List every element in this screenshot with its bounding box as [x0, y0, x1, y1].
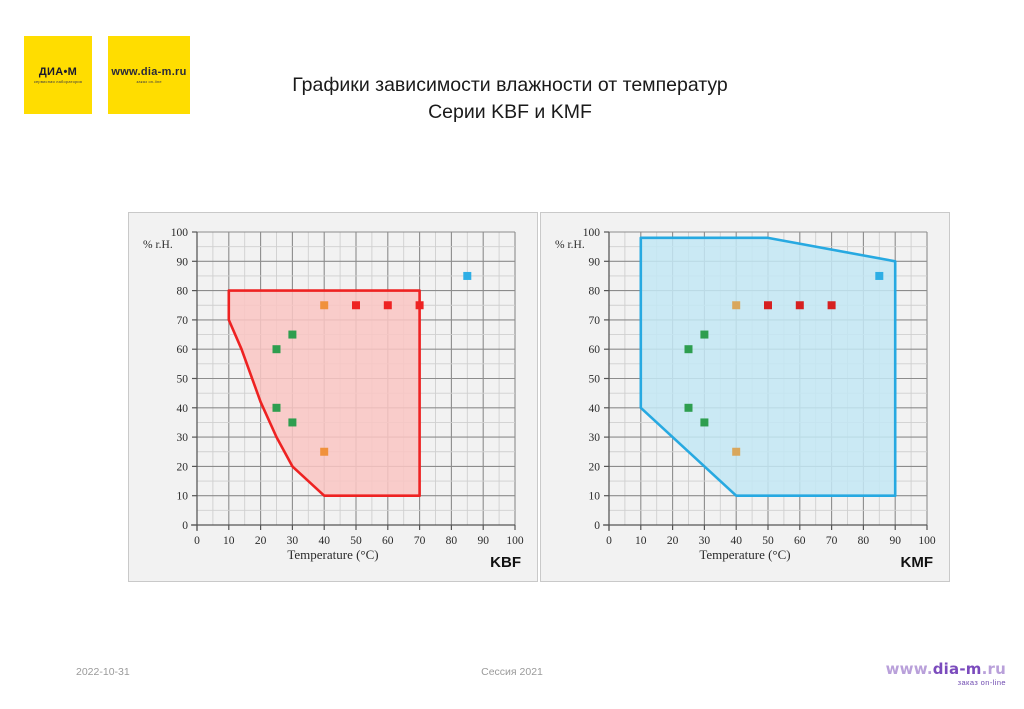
- logo-diam-subtitle: сервисная лаборатория: [34, 80, 82, 85]
- data-point-green: [700, 418, 708, 426]
- x-tick-label: 0: [194, 535, 200, 547]
- x-tick-label: 10: [635, 535, 647, 547]
- data-point-orange: [320, 301, 328, 309]
- y-tick-label: 0: [594, 520, 600, 532]
- x-tick-label: 100: [506, 535, 524, 547]
- x-tick-label: 90: [477, 535, 489, 547]
- data-point-red: [764, 301, 772, 309]
- y-tick-label: 40: [177, 403, 189, 415]
- x-tick-label: 40: [318, 535, 330, 547]
- x-tick-label: 60: [794, 535, 806, 547]
- page-title-line1: Графики зависимости влажности от темпера…: [210, 72, 810, 99]
- x-tick-label: 60: [382, 535, 394, 547]
- footer-logo-www: www.: [886, 660, 933, 678]
- y-tick-label: 30: [589, 432, 601, 444]
- y-tick-label: 30: [177, 432, 189, 444]
- data-point-tan: [732, 448, 740, 456]
- x-tick-label: 70: [414, 535, 426, 547]
- y-tick-label: 80: [589, 286, 601, 298]
- data-point-red: [416, 301, 424, 309]
- plot-area-kbf: 0102030405060708090100010203040506070809…: [129, 213, 537, 581]
- x-tick-label: 70: [826, 535, 838, 547]
- x-axis-label-kbf: Temperature (°C): [129, 547, 537, 563]
- y-tick-label: 100: [583, 227, 601, 239]
- footer-logo-brand: dia-m: [933, 660, 982, 678]
- data-point-blue: [875, 272, 883, 280]
- data-point-orange: [320, 448, 328, 456]
- data-point-green: [288, 418, 296, 426]
- logo-diam: ДИА•М сервисная лаборатория: [24, 36, 92, 114]
- x-axis-label-kmf: Temperature (°C): [541, 547, 949, 563]
- x-tick-label: 80: [446, 535, 458, 547]
- x-tick-label: 20: [667, 535, 679, 547]
- y-tick-label: 70: [589, 315, 601, 327]
- footer-logo-tld: ru: [988, 660, 1006, 678]
- y-axis-label-kbf: % r.H.: [143, 239, 173, 251]
- x-tick-label: 80: [858, 535, 870, 547]
- page-title-line2: Серии KBF и KMF: [210, 99, 810, 126]
- y-tick-label: 50: [177, 374, 189, 386]
- y-tick-label: 80: [177, 286, 189, 298]
- footer-session: Сессия 2021: [0, 666, 1024, 678]
- data-point-red: [796, 301, 804, 309]
- x-tick-label: 20: [255, 535, 267, 547]
- y-tick-label: 50: [589, 374, 601, 386]
- slide-canvas: ДИА•М сервисная лаборатория www.dia-m.ru…: [0, 0, 1024, 709]
- x-tick-label: 100: [918, 535, 936, 547]
- series-tag-kmf: KMF: [901, 554, 934, 571]
- data-point-tan: [732, 301, 740, 309]
- x-tick-label: 40: [730, 535, 742, 547]
- data-point-green: [273, 345, 281, 353]
- operating-range-polygon: [229, 291, 420, 496]
- y-tick-label: 20: [589, 461, 601, 473]
- data-point-green: [700, 331, 708, 339]
- y-tick-label: 40: [589, 403, 601, 415]
- x-tick-label: 90: [889, 535, 901, 547]
- footer-logo: www.dia-m.ru заказ on-line: [886, 662, 1006, 687]
- data-point-red: [384, 301, 392, 309]
- x-tick-label: 50: [350, 535, 362, 547]
- chart-svg-kmf: 0102030405060708090100010203040506070809…: [541, 213, 951, 583]
- y-tick-label: 0: [182, 520, 188, 532]
- y-tick-label: 20: [177, 461, 189, 473]
- data-point-red: [352, 301, 360, 309]
- x-tick-label: 30: [699, 535, 711, 547]
- logo-website-text: www.dia-m.ru: [111, 66, 186, 78]
- data-point-green: [685, 345, 693, 353]
- y-tick-label: 90: [589, 256, 601, 268]
- chart-card-kbf: 0102030405060708090100010203040506070809…: [128, 212, 538, 582]
- y-tick-label: 10: [177, 491, 189, 503]
- chart-card-kmf: 0102030405060708090100010203040506070809…: [540, 212, 950, 582]
- data-point-blue: [463, 272, 471, 280]
- series-tag-kbf: KBF: [490, 554, 521, 571]
- y-tick-label: 70: [177, 315, 189, 327]
- y-tick-label: 60: [589, 344, 601, 356]
- plot-area-kmf: 0102030405060708090100010203040506070809…: [541, 213, 949, 581]
- y-tick-label: 90: [177, 256, 189, 268]
- x-tick-label: 10: [223, 535, 235, 547]
- footer-logo-text: www.dia-m.ru: [886, 662, 1006, 678]
- operating-range-polygon: [641, 238, 895, 496]
- data-point-red: [828, 301, 836, 309]
- y-tick-label: 60: [177, 344, 189, 356]
- y-tick-label: 100: [171, 227, 189, 239]
- logo-diam-text: ДИА•М: [39, 66, 77, 78]
- chart-svg-kbf: 0102030405060708090100010203040506070809…: [129, 213, 539, 583]
- x-tick-label: 50: [762, 535, 774, 547]
- y-axis-label-kmf: % r.H.: [555, 239, 585, 251]
- logo-website-subtitle: заказ on-line: [136, 80, 161, 85]
- data-point-green: [288, 331, 296, 339]
- footer-logo-subtitle: заказ on-line: [886, 679, 1006, 687]
- x-tick-label: 0: [606, 535, 612, 547]
- data-point-green: [273, 404, 281, 412]
- y-tick-label: 10: [589, 491, 601, 503]
- logo-website: www.dia-m.ru заказ on-line: [108, 36, 190, 114]
- data-point-green: [685, 404, 693, 412]
- x-tick-label: 30: [287, 535, 299, 547]
- page-title: Графики зависимости влажности от темпера…: [210, 72, 810, 126]
